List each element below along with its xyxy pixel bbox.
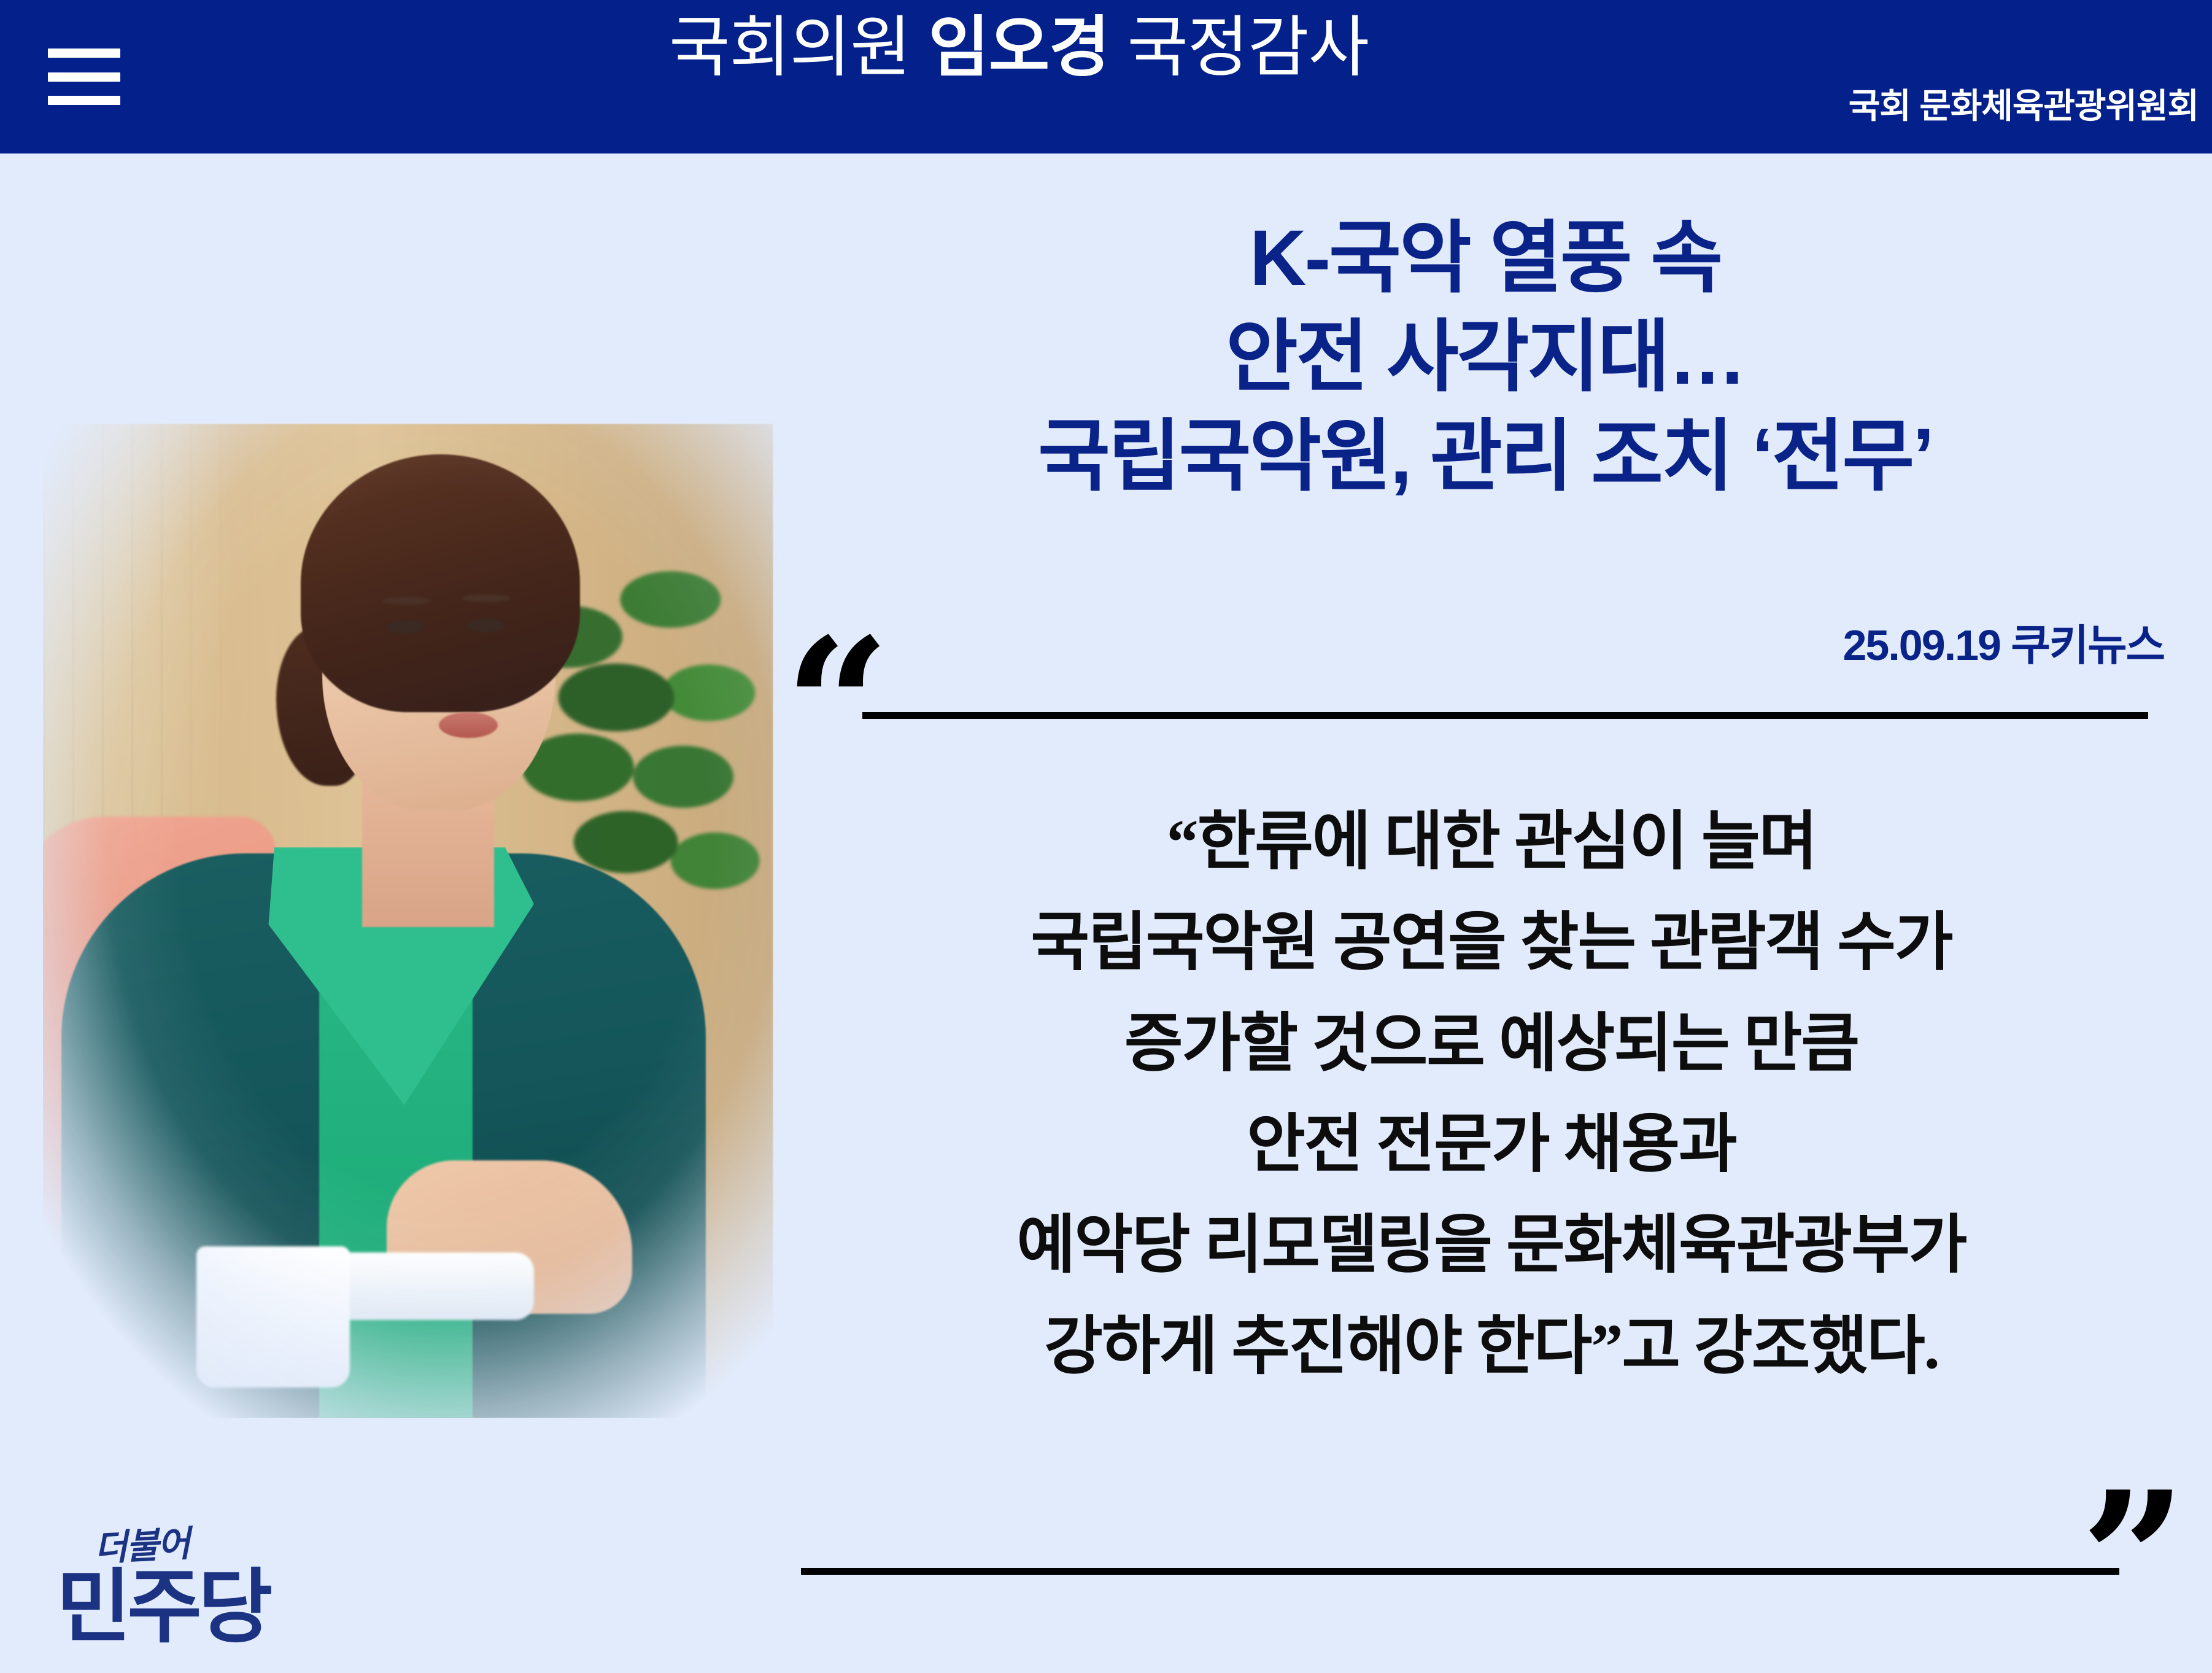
headline-line-2: 안전 사각지대… (792, 308, 2179, 406)
quote-line-5: 예악당 리모델링을 문화체육관광부가 (792, 1195, 2191, 1296)
header-title: 국회의원 임오경 국정감사 (669, 11, 1369, 84)
card-news-slide: 국회의원 임오경 국정감사 국회 문화체육관광위원회 K-국악 열풍 속 안전 (0, 0, 2212, 1673)
lips (439, 712, 498, 738)
party-logo-top-text: 더불어 (94, 1526, 190, 1567)
headline-line-1: K-국악 열풍 속 (792, 209, 2179, 308)
quote-close-icon: ” (2081, 1467, 2187, 1652)
person-figure (43, 424, 773, 1418)
divider-bottom (801, 1568, 2119, 1575)
coffee-cup (196, 1246, 350, 1388)
eyebrow-right (462, 594, 511, 602)
eye-left (387, 620, 425, 634)
quote-line-2: 국립국악원 공연을 찾는 관람객 수가 (792, 893, 2191, 993)
quote-body: “한류에 대한 관심이 늘며 국립국악원 공연을 찾는 관람객 수가 증가할 것… (792, 792, 2191, 1397)
headline: K-국악 열풍 속 안전 사각지대… 국립국악원, 관리 조치 ‘전무’ (792, 209, 2179, 506)
eye-right (466, 619, 505, 632)
hamburger-menu-icon[interactable] (48, 49, 120, 105)
header-title-name: 임오경 (928, 10, 1109, 84)
header-title-suffix: 국정감사 (1110, 10, 1369, 84)
header-title-prefix: 국회의원 (669, 10, 928, 84)
source-date: 25.09.19 쿠키뉴스 (1843, 611, 2164, 673)
hamburger-line (48, 49, 120, 58)
quote-line-1: “한류에 대한 관심이 늘며 (792, 792, 2191, 893)
header-subtitle: 국회 문화체육관광위원회 (1849, 79, 2198, 128)
hamburger-line (48, 96, 120, 105)
hair (301, 454, 580, 712)
header-bar: 국회의원 임오경 국정감사 국회 문화체육관광위원회 (0, 0, 2212, 153)
quote-line-6: 강하게 추진해야 한다”고 강조했다. (792, 1297, 2191, 1397)
portrait-photo (43, 424, 773, 1418)
headline-line-3: 국립국악원, 관리 조치 ‘전무’ (792, 407, 2179, 506)
party-logo-main-text: 민주당 (56, 1567, 320, 1648)
hamburger-line (48, 72, 120, 82)
quote-open-icon: “ (784, 614, 891, 798)
party-logo[interactable]: 더불어 민주당 (56, 1529, 320, 1645)
quote-line-3: 증가할 것으로 예상되는 만큼 (792, 994, 2191, 1095)
eyebrow-left (382, 597, 431, 605)
quote-line-4: 안전 전문가 채용과 (792, 1095, 2191, 1195)
divider-top (862, 712, 2148, 719)
sleeve-cuff (331, 1252, 534, 1320)
